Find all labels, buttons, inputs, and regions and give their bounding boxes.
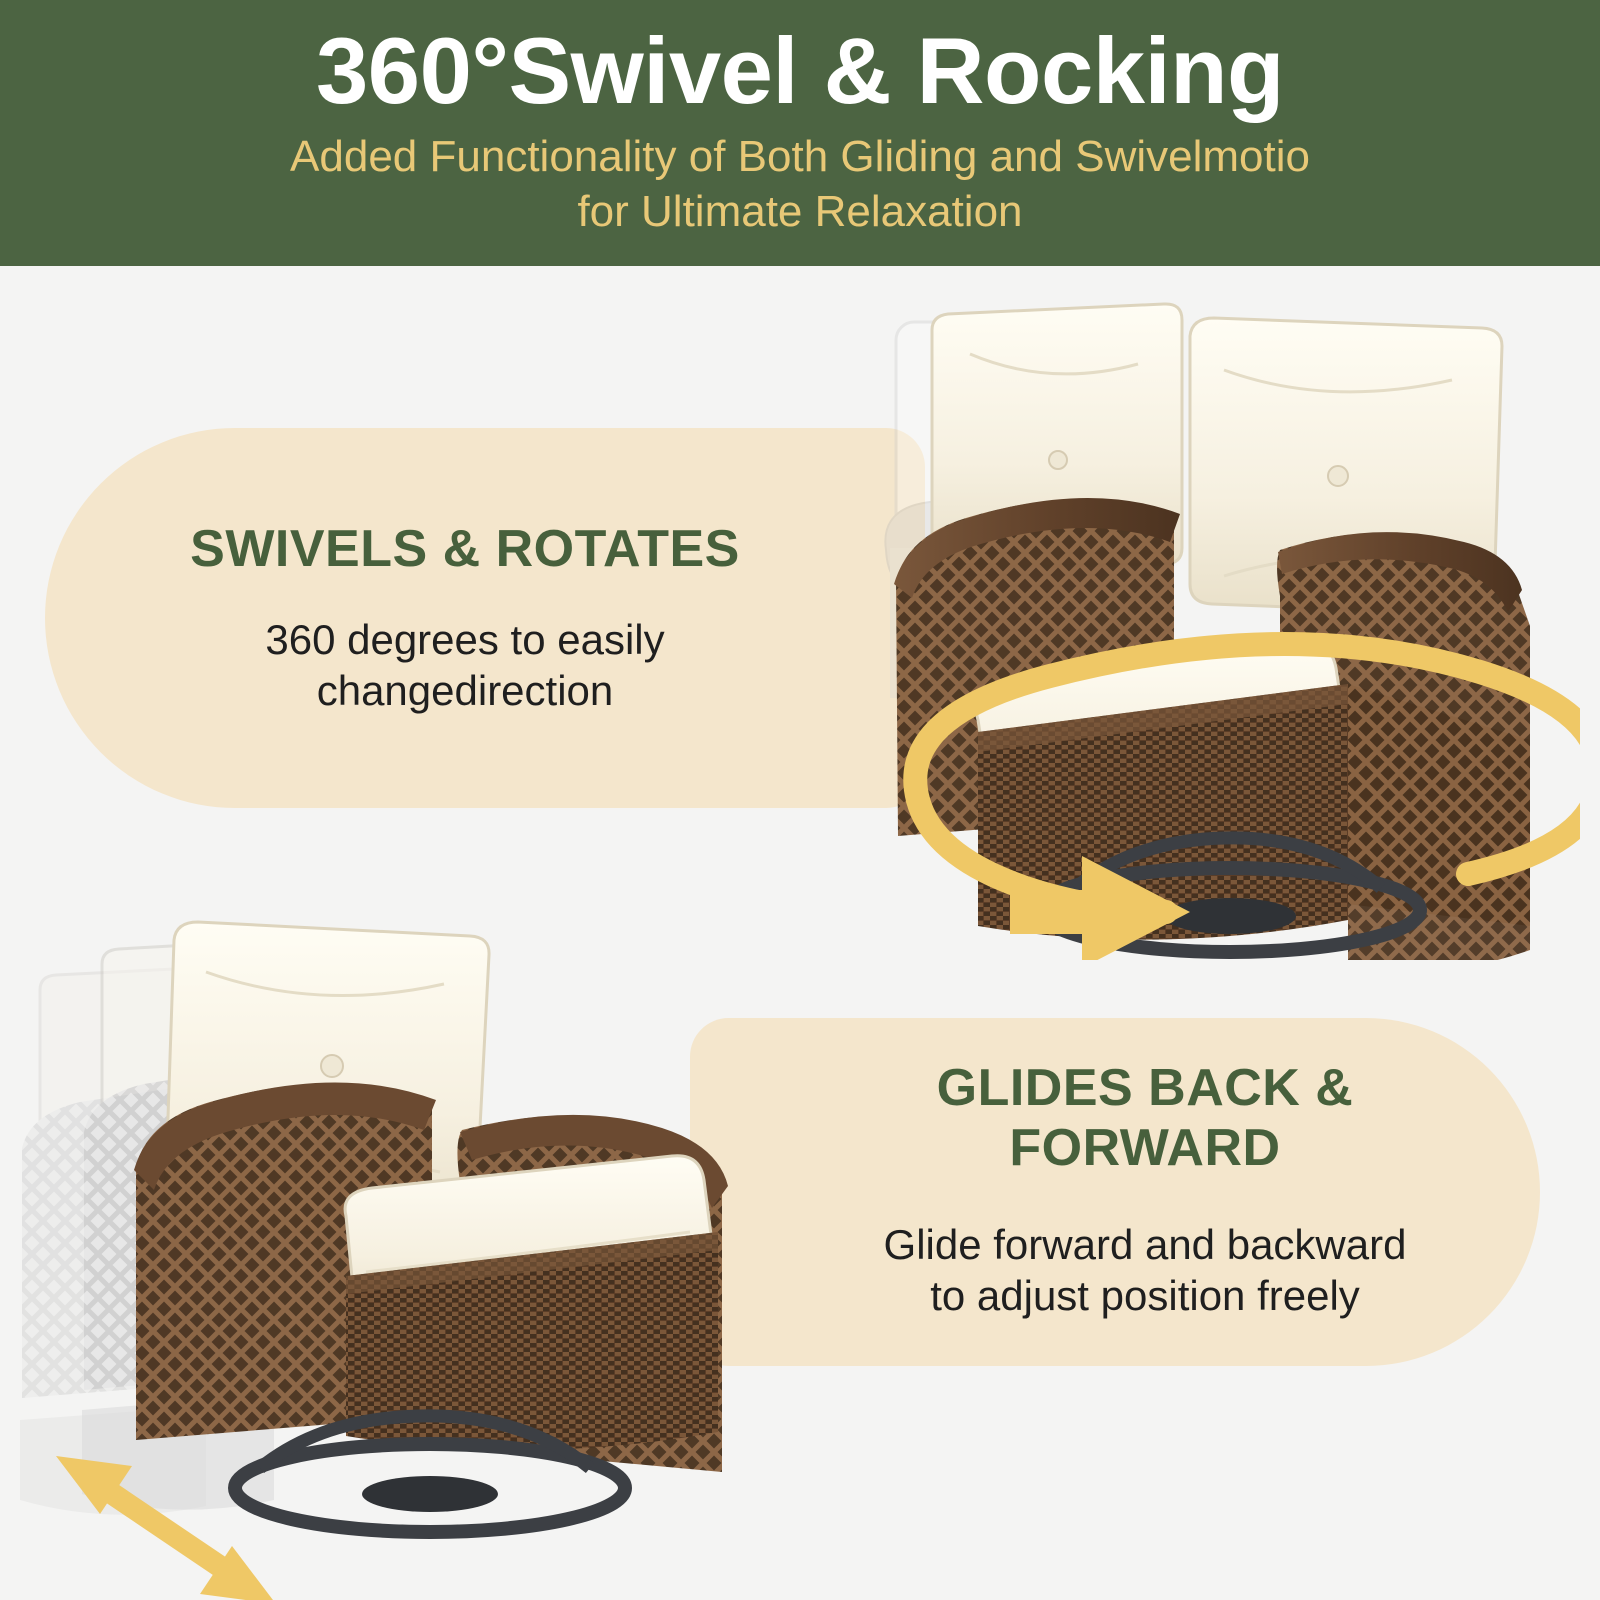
feature-swivel-title: SWIVELS & ROTATES	[190, 520, 740, 580]
feature-glide-title-line2: FORWARD	[1009, 1119, 1280, 1177]
header-subtitle-line1: Added Functionality of Both Gliding and …	[290, 132, 1310, 181]
glider-chair-illustration	[10, 880, 770, 1600]
feature-glide-body: Glide forward and backward to adjust pos…	[884, 1219, 1407, 1321]
infographic-page: 360°Swivel & Rocking Added Functionality…	[0, 0, 1600, 1600]
feature-glide-title: GLIDES BACK & FORWARD	[937, 1059, 1354, 1179]
header-subtitle-line2: for Ultimate Relaxation	[290, 184, 1310, 239]
feature-card-glide: GLIDES BACK & FORWARD Glide forward and …	[690, 1018, 1540, 1366]
swivel-chair-illustration	[860, 300, 1580, 960]
header-subtitle: Added Functionality of Both Gliding and …	[290, 129, 1310, 239]
feature-swivel-body-line1: 360 degrees to easily	[265, 616, 664, 663]
feature-glide-body-line1: Glide forward and backward	[884, 1221, 1407, 1268]
feature-swivel-body: 360 degrees to easily changedirection	[265, 614, 664, 716]
feature-card-swivel: SWIVELS & ROTATES 360 degrees to easily …	[45, 428, 925, 808]
feature-swivel-body-line2: changedirection	[317, 667, 614, 714]
feature-glide-body-line2: to adjust position freely	[930, 1272, 1360, 1319]
header-banner: 360°Swivel & Rocking Added Functionality…	[0, 0, 1600, 266]
page-title: 360°Swivel & Rocking	[316, 18, 1284, 123]
feature-glide-title-line1: GLIDES BACK &	[937, 1059, 1354, 1117]
